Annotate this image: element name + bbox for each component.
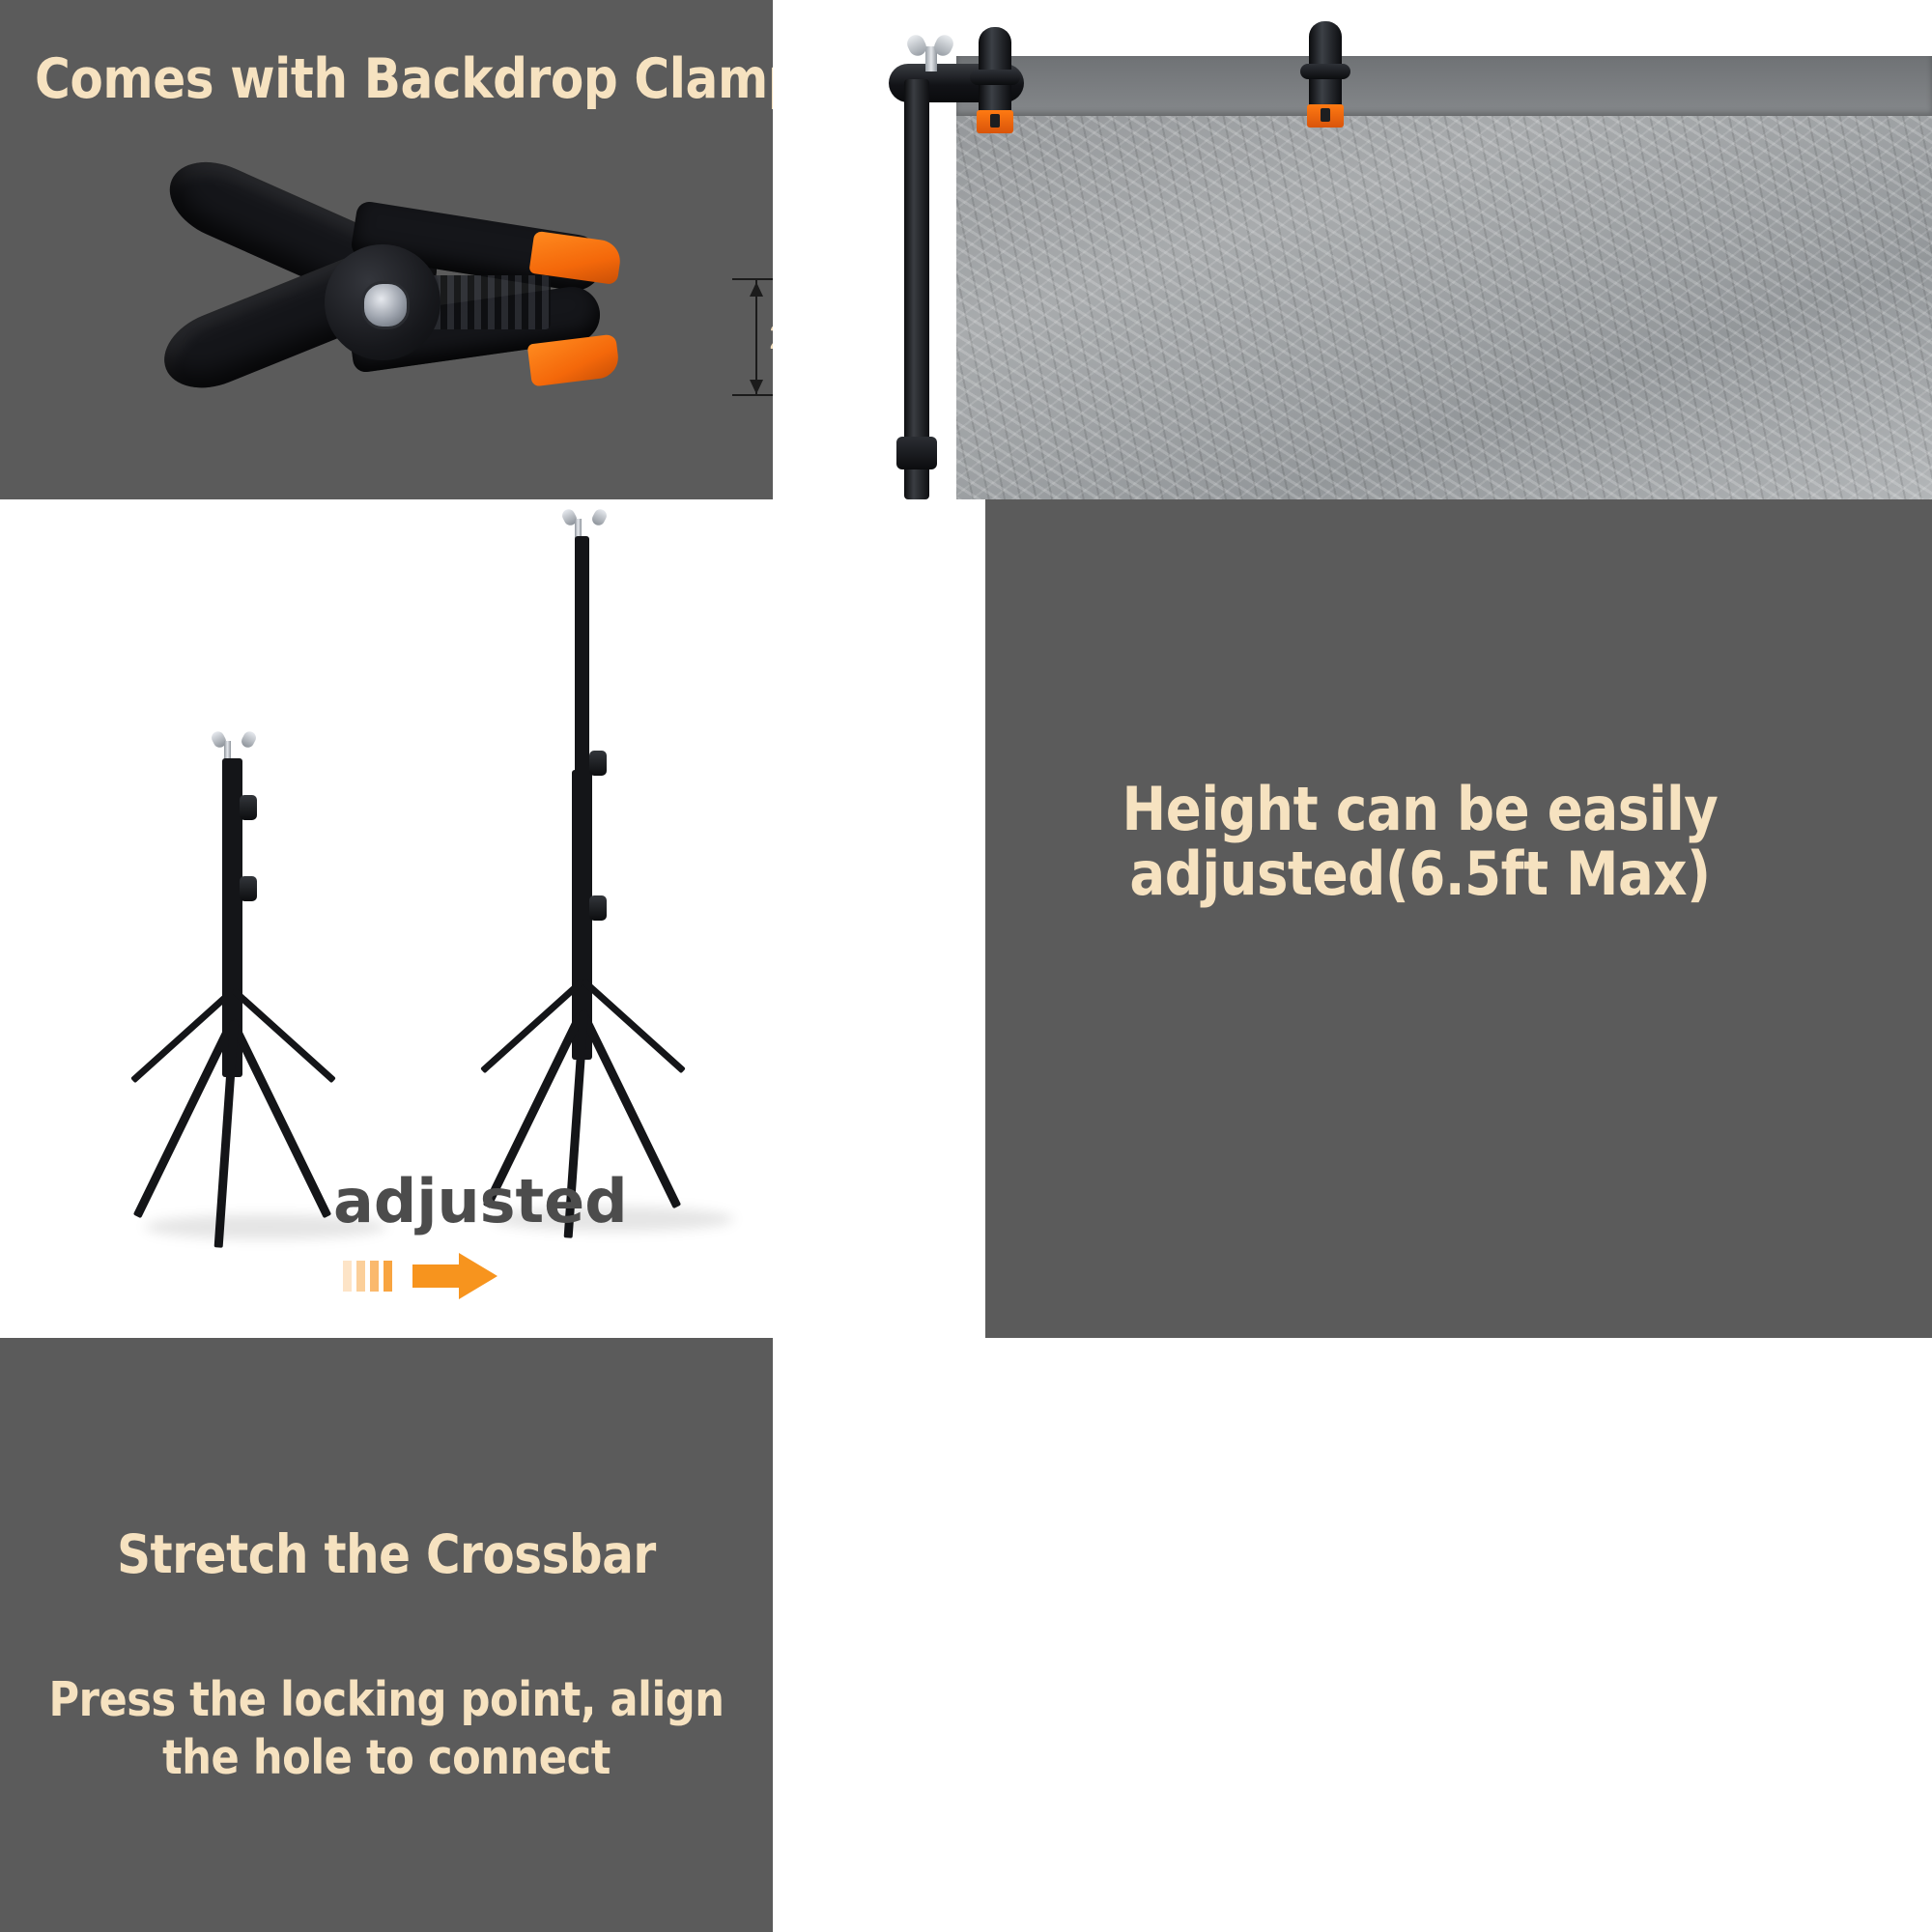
spring-clamp-on-backdrop xyxy=(1309,21,1342,129)
stand-lock-knob xyxy=(240,795,257,820)
crossbar-title: Stretch the Crossbar xyxy=(46,1526,726,1583)
right-arrow-icon xyxy=(343,1253,497,1299)
clamp-arm xyxy=(1300,64,1350,79)
stand-lock-knob xyxy=(589,895,607,921)
backdrop-top-band xyxy=(956,56,1932,116)
crossbar-line-2: the hole to connect xyxy=(46,1729,726,1787)
stand-extended xyxy=(440,509,729,1243)
clamps-title: Comes with Backdrop Clamps xyxy=(35,50,773,110)
wing-nut-right xyxy=(590,507,609,527)
stand-collar xyxy=(896,437,937,469)
arrow-shaft xyxy=(412,1264,463,1288)
clamp-arm xyxy=(970,70,1020,85)
stand-brace xyxy=(231,987,336,1083)
panel-tubes xyxy=(773,1338,1932,1932)
panel-height-text: Height can be easily adjusted(6.5ft Max) xyxy=(985,499,1932,1338)
height-line-1: Height can be easily xyxy=(985,778,1870,842)
stand-brace xyxy=(581,978,686,1073)
arrow-down-icon xyxy=(750,380,763,394)
panel-backdrop-photo xyxy=(773,0,1932,499)
arrow-up-icon xyxy=(750,282,763,297)
spring-clamp-on-backdrop xyxy=(979,27,1011,135)
arrow-dash xyxy=(384,1261,392,1292)
dimension-line xyxy=(755,280,757,396)
height-headline: Height can be easily adjusted(6.5ft Max) xyxy=(985,778,1870,907)
height-line-2: adjusted(6.5ft Max) xyxy=(985,842,1870,907)
arrow-dash xyxy=(370,1261,379,1292)
clamp-tip-gap xyxy=(1321,108,1330,122)
arrow-dash xyxy=(343,1261,352,1292)
arrow-head xyxy=(459,1253,497,1299)
crossbar-line-1: Press the locking point, align xyxy=(46,1671,726,1729)
panel-clamps: Comes with Backdrop Clamps 2.36in xyxy=(0,0,773,499)
stand-lock-knob xyxy=(240,876,257,901)
stand-collapsed xyxy=(106,731,357,1234)
panel-crossbar-text: Stretch the Crossbar Press the locking p… xyxy=(0,1338,773,1932)
backdrop-cloth xyxy=(956,56,1932,499)
clamp-tip-gap xyxy=(990,114,1000,128)
arrow-dash xyxy=(356,1261,365,1292)
stand-lock-knob xyxy=(589,751,607,776)
stand-upper-section xyxy=(575,536,589,787)
panel-stands: adjusted xyxy=(0,499,985,1338)
crossbar-instructions: Press the locking point, align the hole … xyxy=(46,1671,726,1787)
spring-clamp-photo xyxy=(145,130,647,440)
stand-leg xyxy=(228,1019,331,1218)
adjusted-label: adjusted xyxy=(333,1166,628,1236)
dimension-cap-bottom xyxy=(732,394,773,396)
infographic-page: Comes with Backdrop Clamps 2.36in xyxy=(0,0,1932,1932)
wing-nut-icon xyxy=(908,33,952,66)
clamp-pivot-screw xyxy=(361,281,410,329)
wing-nut-right xyxy=(240,729,258,750)
dimension-cap-top xyxy=(732,278,773,280)
